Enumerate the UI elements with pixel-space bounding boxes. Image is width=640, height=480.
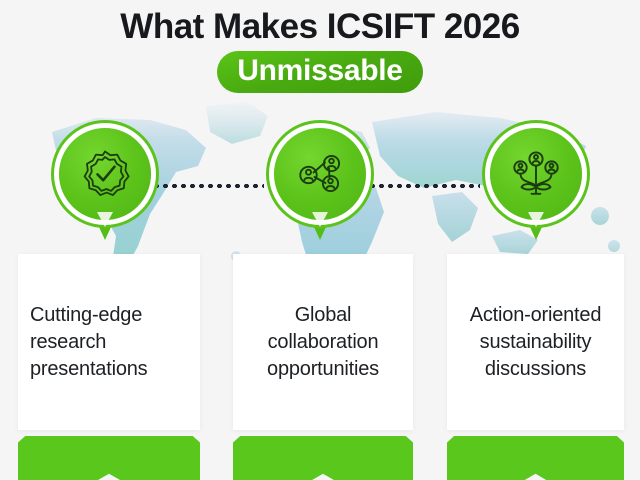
verified-badge-check-icon (77, 146, 133, 202)
pin-marker-1[interactable] (53, 128, 157, 244)
pin-marker-3[interactable] (484, 128, 588, 244)
sustainability-hierarchy-icon (508, 146, 564, 202)
pin-marker-2[interactable] (268, 128, 372, 244)
connector-dotted-line-1 (152, 184, 264, 188)
infographic-canvas: What Makes ICSIFT 2026 Unmissable (0, 0, 640, 480)
feature-card-2[interactable]: Global collaboration opportunities (233, 254, 413, 430)
feature-card-3[interactable]: Action-oriented sustainability discussio… (447, 254, 624, 430)
heading-block: What Makes ICSIFT 2026 Unmissable (0, 6, 640, 93)
network-collaboration-icon (292, 146, 348, 202)
card-base-plinth-1 (18, 436, 200, 480)
connector-dotted-line-2 (368, 184, 480, 188)
feature-card-label-3: Action-oriented sustainability discussio… (455, 302, 616, 383)
card-base-plinth-2 (233, 436, 413, 480)
badge-wrapper: Unmissable (0, 51, 640, 93)
feature-card-label-1: Cutting-edge research presentations (30, 302, 194, 383)
page-title: What Makes ICSIFT 2026 (0, 6, 640, 48)
feature-card-label-2: Global collaboration opportunities (241, 302, 405, 383)
card-base-plinth-3 (447, 436, 624, 480)
unmissable-badge: Unmissable (217, 51, 422, 93)
feature-card-1[interactable]: Cutting-edge research presentations (18, 254, 200, 430)
